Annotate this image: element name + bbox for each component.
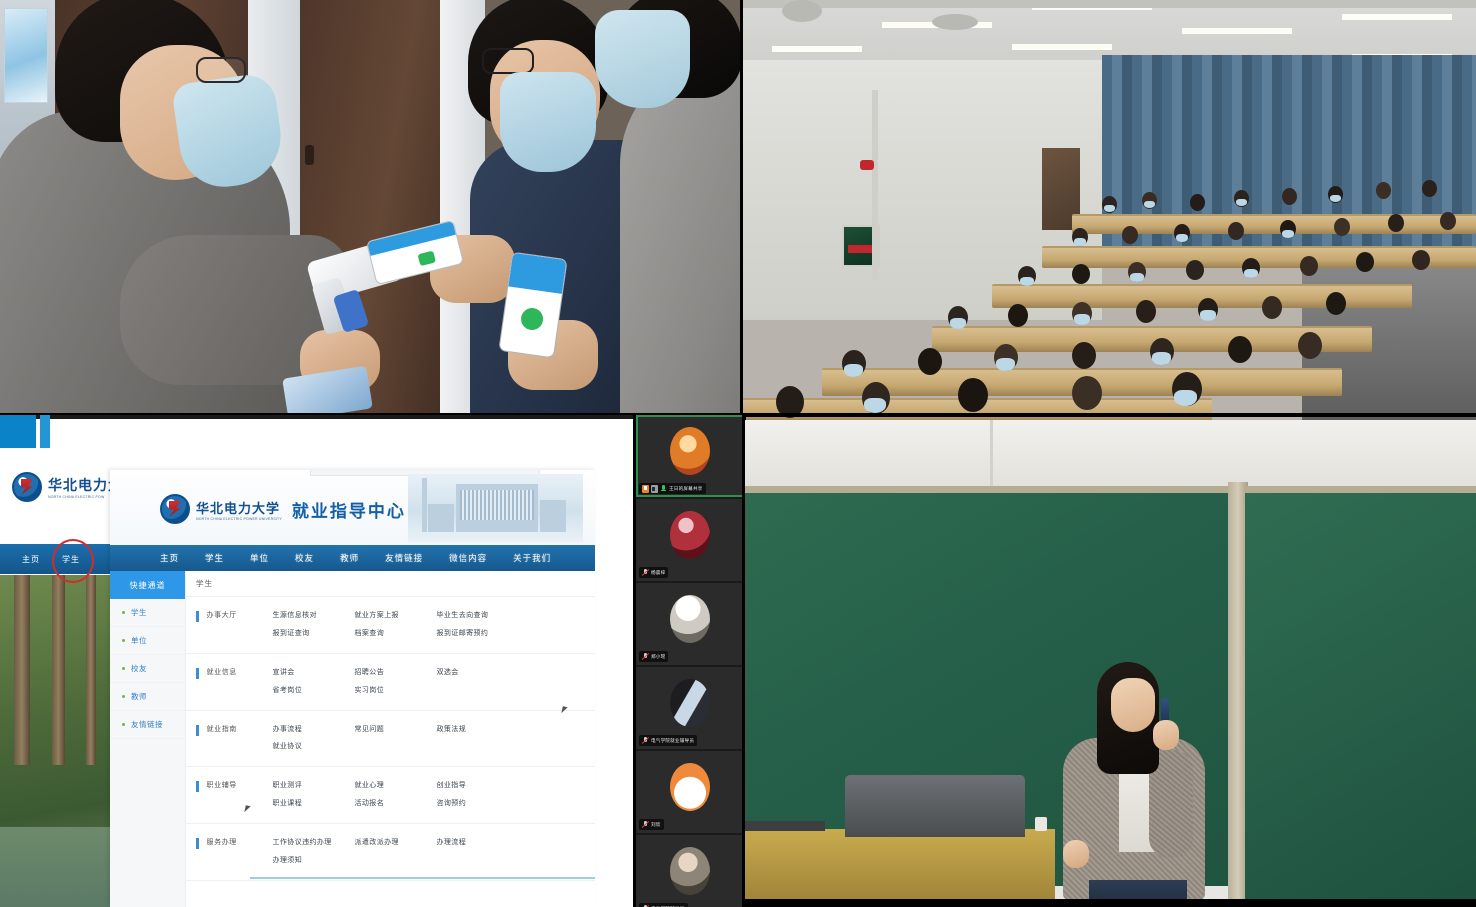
upper-wall bbox=[745, 420, 1476, 488]
participant-tile[interactable]: 刘欣 bbox=[636, 751, 744, 833]
tray-icon-1[interactable] bbox=[6, 890, 15, 899]
microphone-muted-icon bbox=[642, 821, 649, 829]
career-center-website: 华北电力大学 NORTH CHINA ELECTRIC POWER UNIVER… bbox=[110, 470, 595, 907]
participant-name: 杨晨梓 bbox=[651, 570, 665, 576]
section-links: 办事流程 常见问题 政策法规 就业协议 bbox=[273, 724, 596, 754]
avatar bbox=[670, 595, 710, 643]
bullet-icon bbox=[122, 667, 125, 670]
avatar bbox=[670, 679, 710, 727]
section-label: 职业辅导 bbox=[207, 780, 273, 790]
nav-item-employer[interactable]: 单位 bbox=[250, 552, 269, 564]
window-logo-block bbox=[0, 415, 36, 448]
speaker-hand bbox=[1153, 720, 1179, 750]
avatar bbox=[670, 763, 710, 811]
tray-icon-2[interactable] bbox=[20, 890, 29, 899]
footer-divider bbox=[250, 877, 595, 880]
participant-meta: 王日的屏幕共享 bbox=[639, 483, 706, 494]
section-label: 办事大厅 bbox=[207, 610, 273, 620]
tray-icon-3[interactable] bbox=[34, 890, 43, 899]
face-mask-icon bbox=[500, 72, 596, 172]
link-item[interactable]: 创业指导 bbox=[437, 780, 519, 792]
nav-item-student[interactable]: 学生 bbox=[205, 552, 224, 564]
nav-item-home[interactable]: 主页 bbox=[160, 552, 179, 564]
pipe bbox=[872, 90, 878, 280]
link-item[interactable]: 档案查询 bbox=[355, 628, 437, 640]
sidebar-item-label: 友情链接 bbox=[131, 719, 163, 730]
sidebar-header: 快捷通道 bbox=[110, 571, 185, 599]
red-ellipse-annotation bbox=[52, 539, 94, 583]
nav-item-teacher[interactable]: 教师 bbox=[340, 552, 359, 564]
panel-divider-vertical bbox=[740, 0, 743, 415]
photo-health-check bbox=[0, 0, 740, 415]
bg-nav-item-home[interactable]: 主页 bbox=[22, 554, 40, 565]
student-b-glasses bbox=[482, 48, 534, 74]
section-links: 职业测评 就业心理 创业指导 职业课程 活动报名 咨询预约 bbox=[273, 780, 596, 810]
link-item[interactable]: 双选会 bbox=[437, 667, 519, 679]
site-banner: 华北电力大学 NORTH CHINA ELECTRIC POWER UNIVER… bbox=[110, 470, 595, 545]
mouse-cursor-icon bbox=[244, 805, 253, 814]
nav-item-links[interactable]: 友情链接 bbox=[385, 552, 423, 564]
section-row: 职业辅导 职业测评 就业心理 创业指导 职业课程 活动报名 咨询预约 bbox=[186, 767, 595, 824]
link-item[interactable]: 实习岗位 bbox=[355, 685, 437, 697]
section-label: 服务办理 bbox=[207, 837, 273, 847]
bullet-icon bbox=[122, 611, 125, 614]
sidebar-item-teacher[interactable]: 教师 bbox=[110, 683, 185, 711]
microphone-muted-icon bbox=[642, 569, 649, 577]
site-nav[interactable]: 主页 学生 单位 校友 教师 友情链接 微信内容 关于我们 bbox=[110, 545, 595, 571]
bullet-icon bbox=[122, 639, 125, 642]
lectern-desk bbox=[745, 829, 1055, 907]
sidebar-item-alumni[interactable]: 校友 bbox=[110, 655, 185, 683]
microphone-icon bbox=[660, 485, 667, 493]
face-mask-icon bbox=[595, 10, 690, 108]
speaker-face bbox=[1111, 678, 1155, 732]
link-item[interactable]: 办事流程 bbox=[273, 724, 355, 736]
sidebar-item-label: 单位 bbox=[131, 635, 147, 646]
main-content: 学生 办事大厅 生源信息核对 就业方案上报 毕业生去向查询 报到证查询 档案查询… bbox=[186, 571, 595, 907]
nav-item-wechat[interactable]: 微信内容 bbox=[449, 552, 487, 564]
sidebar-item-label: 教师 bbox=[131, 691, 147, 702]
photo-collage: 华北电力大 NORTH CHINA ELECTRIC POW 主页 学生 bbox=[0, 0, 1476, 907]
link-item[interactable]: 活动报名 bbox=[355, 798, 437, 810]
section-row: 就业信息 宣讲会 招聘公告 双选会 省考岗位 实习岗位 bbox=[186, 654, 595, 711]
section-links: 生源信息核对 就业方案上报 毕业生去向查询 报到证查询 档案查询 报到证邮寄预约 bbox=[273, 610, 596, 640]
campus-building-illustration bbox=[408, 474, 583, 542]
participant-meta: 电气学院就业辅导员 bbox=[639, 735, 697, 746]
participant-name: 王日的屏幕共享 bbox=[669, 486, 703, 492]
screen-share-icon bbox=[642, 485, 649, 493]
link-item[interactable]: 宣讲会 bbox=[273, 667, 355, 679]
participant-meta: 郑小瑶 bbox=[639, 651, 668, 662]
link-item[interactable]: 派遣改派办理 bbox=[355, 837, 437, 849]
participant-name: 电气学院就业辅导员 bbox=[651, 738, 694, 744]
sidebar-item-label: 校友 bbox=[131, 663, 147, 674]
participant-meta: 电气学院辅导员 bbox=[639, 903, 688, 907]
speaker-hand-2 bbox=[1063, 840, 1089, 868]
campus-photo bbox=[0, 575, 116, 907]
link-item[interactable]: 省考岗位 bbox=[273, 685, 355, 697]
participant-tile[interactable]: 郑小瑶 bbox=[636, 583, 744, 665]
keyboard bbox=[745, 821, 825, 831]
alarm-icon bbox=[860, 160, 874, 170]
podium-monitor bbox=[845, 775, 1025, 837]
breadcrumb: 学生 bbox=[186, 571, 595, 597]
section-links: 工作协议违约办理 派遣改派办理 办理流程 办理须知 bbox=[273, 837, 596, 867]
section-label: 就业信息 bbox=[207, 667, 273, 677]
section-label: 就业指南 bbox=[207, 724, 273, 734]
window-logo-block-2 bbox=[40, 415, 50, 448]
quick-access-sidebar: 快捷通道 学生 单位 校友 教师 bbox=[110, 571, 186, 907]
section-links: 宣讲会 招聘公告 双选会 省考岗位 实习岗位 bbox=[273, 667, 596, 697]
link-item[interactable]: 职业课程 bbox=[273, 798, 355, 810]
sidebar-item-label: 学生 bbox=[131, 607, 147, 618]
camera-icon bbox=[651, 485, 658, 493]
bullet-icon bbox=[122, 695, 125, 698]
section-row: 就业指南 办事流程 常见问题 政策法规 就业协议 bbox=[186, 711, 595, 768]
bottom-letterbox bbox=[745, 899, 1476, 907]
sidebar-item-student[interactable]: 学生 bbox=[110, 599, 185, 627]
link-item[interactable]: 就业心理 bbox=[355, 780, 437, 792]
link-item[interactable]: 常见问题 bbox=[355, 724, 437, 736]
photo-speaker bbox=[745, 420, 1476, 907]
student-grey-back bbox=[620, 55, 740, 415]
sidebar-item-employer[interactable]: 单位 bbox=[110, 627, 185, 655]
nav-item-alumni[interactable]: 校友 bbox=[295, 552, 314, 564]
photo-lecture-hall bbox=[742, 0, 1476, 420]
section-row: 办事大厅 生源信息核对 就业方案上报 毕业生去向查询 报到证查询 档案查询 报到… bbox=[186, 597, 595, 654]
section-row: 服务办理 工作协议违约办理 派遣改派办理 办理流程 办理须知 bbox=[186, 824, 595, 881]
participant-tile[interactable]: 王日的屏幕共享 bbox=[636, 415, 744, 497]
participant-name: 郑小瑶 bbox=[651, 654, 665, 660]
participant-tile[interactable]: 杨晨梓 bbox=[636, 499, 744, 581]
link-item[interactable]: 报到证查询 bbox=[273, 628, 355, 640]
banner-title: 就业指导中心 bbox=[292, 497, 406, 522]
link-item[interactable]: 办理流程 bbox=[437, 837, 519, 849]
row-accent-bar bbox=[196, 668, 199, 679]
tray-icon-5[interactable] bbox=[62, 890, 71, 899]
link-item[interactable]: 工作协议违约办理 bbox=[273, 837, 355, 849]
window-titlebar bbox=[0, 415, 633, 419]
door-handle bbox=[305, 145, 314, 165]
tray-icon-4[interactable] bbox=[48, 890, 57, 899]
sidebar-item-links[interactable]: 友情链接 bbox=[110, 711, 185, 739]
photo-screen-share: 华北电力大 NORTH CHINA ELECTRIC POW 主页 学生 bbox=[0, 415, 633, 907]
mouse-cursor-icon bbox=[561, 706, 570, 715]
link-item[interactable]: 职业测评 bbox=[273, 780, 355, 792]
link-item[interactable]: 咨询预约 bbox=[437, 798, 519, 810]
blackboard-right bbox=[1245, 486, 1476, 906]
participant-tile[interactable]: 电气学院辅导员 bbox=[636, 835, 744, 907]
microphone-muted-icon bbox=[642, 653, 649, 661]
participant-tile[interactable]: 电气学院就业辅导员 bbox=[636, 667, 744, 749]
participant-meta: 刘欣 bbox=[639, 819, 664, 830]
bullet-icon bbox=[122, 723, 125, 726]
avatar bbox=[670, 847, 710, 895]
site-logo-en: NORTH CHINA ELECTRIC POWER UNIVERSITY bbox=[196, 517, 282, 521]
avatar bbox=[670, 427, 710, 475]
row-accent-bar bbox=[196, 611, 199, 622]
system-tray-icons[interactable] bbox=[6, 890, 85, 899]
tray-icon-6[interactable] bbox=[76, 890, 85, 899]
link-item[interactable]: 报到证邮寄预约 bbox=[437, 628, 519, 640]
video-participant-strip[interactable]: 王日的屏幕共享 杨晨梓 郑小瑶 电气学院就业辅导员 bbox=[633, 415, 745, 907]
site-logo-cn: 华北电力大学 bbox=[196, 498, 282, 517]
row-accent-bar bbox=[196, 781, 199, 792]
student-a-glasses bbox=[196, 57, 246, 83]
link-item[interactable]: 就业协议 bbox=[273, 741, 355, 753]
water-cup bbox=[1035, 817, 1047, 831]
row-accent-bar bbox=[196, 725, 199, 736]
row-accent-bar bbox=[196, 838, 199, 849]
link-item[interactable]: 办理须知 bbox=[273, 855, 355, 867]
link-item[interactable]: 毕业生去向查询 bbox=[437, 610, 519, 622]
wall-poster bbox=[4, 8, 48, 103]
microphone-muted-icon bbox=[642, 737, 649, 745]
university-seal-icon bbox=[12, 472, 42, 502]
university-seal-icon bbox=[160, 494, 190, 524]
link-item[interactable]: 生源信息核对 bbox=[273, 610, 355, 622]
link-item[interactable]: 就业方案上报 bbox=[355, 610, 437, 622]
participant-name: 刘欣 bbox=[651, 822, 661, 828]
link-item[interactable]: 政策法规 bbox=[437, 724, 519, 736]
avatar bbox=[670, 511, 710, 559]
nav-item-about[interactable]: 关于我们 bbox=[513, 552, 551, 564]
link-item[interactable]: 招聘公告 bbox=[355, 667, 437, 679]
participant-meta: 杨晨梓 bbox=[639, 567, 668, 578]
